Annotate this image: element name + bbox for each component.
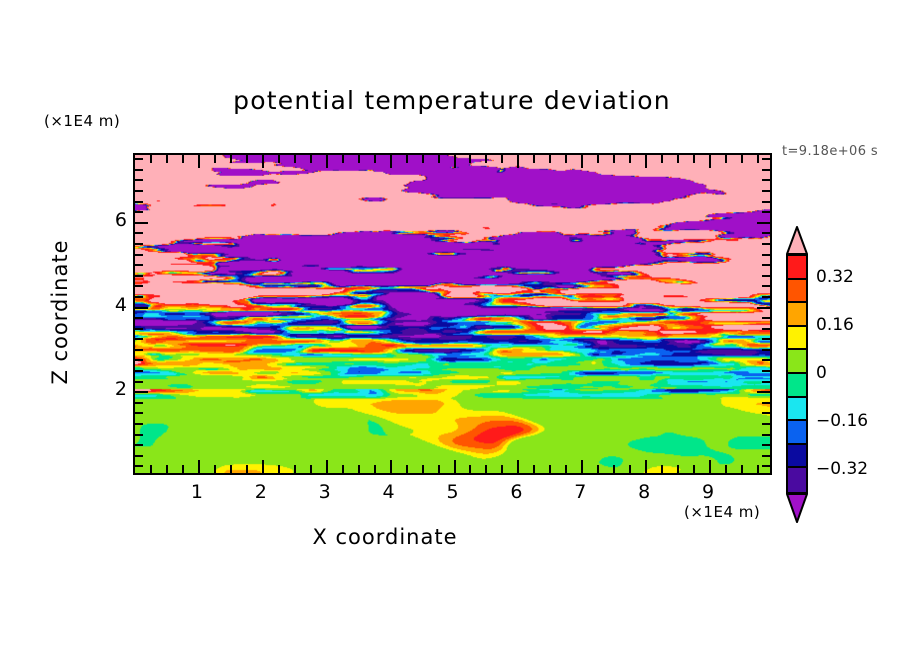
axis-tick: [454, 155, 456, 168]
axis-tick: [262, 155, 264, 168]
axis-tick: [725, 155, 727, 163]
axis-tick: [438, 465, 440, 473]
axis-tick: [135, 285, 143, 287]
axis-tick: [757, 465, 759, 473]
axis-tick: [709, 155, 711, 168]
axis-tick: [135, 370, 143, 372]
colorbar-segment: [788, 398, 806, 422]
axis-tick: [762, 169, 770, 171]
axis-tick: [374, 155, 376, 163]
axis-tick: [214, 465, 216, 473]
axis-tick: [762, 179, 770, 181]
axis-tick: [762, 201, 770, 203]
axis-tick: [693, 465, 695, 473]
axis-tick: [762, 328, 770, 330]
axis-tick: [762, 243, 770, 245]
axis-tick: [182, 155, 184, 163]
axis-tick: [645, 155, 647, 168]
colorbar-segment: [788, 256, 806, 280]
axis-tick: [757, 307, 770, 309]
axis-tick: [135, 264, 143, 266]
axis-tick: [358, 465, 360, 473]
axis-tick: [198, 155, 200, 168]
axis-tick: [661, 155, 663, 163]
figure-canvas: potential temperature deviation (×1E4 m)…: [0, 0, 904, 654]
axis-tick: [135, 179, 143, 181]
axis-tick: [549, 155, 551, 163]
axis-tick: [262, 460, 264, 473]
axis-tick: [246, 465, 248, 473]
axis-tick: [294, 155, 296, 163]
axis-tick: [762, 402, 770, 404]
axis-tick: [757, 222, 770, 224]
colorbar-segment: [788, 421, 806, 445]
axis-tick: [326, 155, 328, 168]
axis-tick: [762, 423, 770, 425]
y-axis-unit-label: (×1E4 m): [44, 112, 120, 130]
colorbar-tick-label: 0: [816, 363, 827, 383]
axis-tick: [135, 232, 143, 234]
colorbar: 0.320.160−0.16−0.32: [784, 226, 810, 522]
axis-tick: [565, 155, 567, 163]
axis-tick: [310, 155, 312, 163]
axis-tick: [135, 455, 143, 457]
axis-tick: [762, 158, 770, 160]
axis-tick: [533, 465, 535, 473]
axis-tick: [762, 349, 770, 351]
colorbar-segment: [788, 280, 806, 304]
x-axis-tick-label: 2: [241, 481, 281, 503]
x-axis-tick-label: 4: [369, 481, 409, 503]
page-title: potential temperature deviation: [0, 86, 904, 115]
axis-tick: [135, 412, 143, 414]
temperature-deviation-field: [135, 155, 770, 473]
axis-tick: [517, 155, 519, 168]
axis-tick: [182, 465, 184, 473]
axis-tick: [135, 402, 143, 404]
axis-tick: [246, 155, 248, 163]
colorbar-segment: [788, 350, 806, 374]
y-axis-tick-label: 6: [101, 209, 127, 231]
axis-tick: [517, 460, 519, 473]
colorbar-tick-label: −0.16: [816, 411, 868, 431]
axis-tick: [230, 465, 232, 473]
axis-tick: [757, 155, 759, 163]
contour-plot-area: [133, 153, 772, 475]
axis-tick: [230, 155, 232, 163]
axis-tick: [150, 155, 152, 163]
axis-tick: [597, 465, 599, 473]
axis-tick: [135, 359, 143, 361]
axis-tick: [135, 338, 143, 340]
x-axis-tick-label: 1: [177, 481, 217, 503]
axis-tick: [390, 155, 392, 168]
axis-tick: [757, 391, 770, 393]
axis-tick: [278, 465, 280, 473]
axis-tick: [326, 460, 328, 473]
axis-tick: [198, 460, 200, 473]
axis-tick: [762, 254, 770, 256]
axis-tick: [762, 465, 770, 467]
axis-tick: [485, 155, 487, 163]
axis-tick: [135, 444, 143, 446]
colorbar-segment: [788, 303, 806, 327]
axis-tick: [762, 455, 770, 457]
y-axis-tick-label: 4: [101, 294, 127, 316]
axis-tick: [406, 155, 408, 163]
axis-tick: [294, 465, 296, 473]
axis-tick: [762, 434, 770, 436]
axis-tick: [549, 465, 551, 473]
axis-tick: [693, 155, 695, 163]
axis-tick: [135, 423, 143, 425]
axis-tick: [645, 460, 647, 473]
time-annotation: t=9.18e+06 s: [782, 144, 878, 159]
colorbar-segment: [788, 468, 806, 492]
axis-tick: [762, 275, 770, 277]
axis-tick: [438, 155, 440, 163]
axis-tick: [342, 465, 344, 473]
axis-tick: [135, 190, 143, 192]
axis-tick: [741, 155, 743, 163]
axis-tick: [485, 465, 487, 473]
axis-tick: [469, 155, 471, 163]
axis-tick: [709, 460, 711, 473]
axis-tick: [762, 338, 770, 340]
axis-tick: [741, 465, 743, 473]
x-axis-unit-label: (×1E4 m): [684, 503, 760, 521]
colorbar-segment: [788, 445, 806, 469]
axis-tick: [135, 307, 148, 309]
colorbar-segment: [788, 374, 806, 398]
axis-tick: [629, 465, 631, 473]
axis-tick: [135, 391, 148, 393]
axis-tick: [135, 296, 143, 298]
axis-tick: [762, 370, 770, 372]
axis-tick: [135, 201, 143, 203]
axis-tick: [762, 211, 770, 213]
axis-tick: [501, 155, 503, 163]
axis-tick: [135, 465, 143, 467]
x-axis-tick-label: 7: [560, 481, 600, 503]
axis-tick: [725, 465, 727, 473]
axis-tick: [135, 349, 143, 351]
axis-tick: [469, 465, 471, 473]
axis-tick: [454, 460, 456, 473]
colorbar-tick-label: 0.16: [816, 315, 854, 335]
axis-tick: [374, 465, 376, 473]
axis-tick: [135, 169, 143, 171]
colorbar-segments: [786, 254, 808, 494]
axis-tick: [762, 317, 770, 319]
axis-tick: [214, 155, 216, 163]
axis-tick: [166, 465, 168, 473]
axis-tick: [762, 190, 770, 192]
axis-tick: [762, 412, 770, 414]
axis-tick: [677, 155, 679, 163]
axis-tick: [677, 465, 679, 473]
axis-tick: [310, 465, 312, 473]
axis-tick: [762, 444, 770, 446]
axis-tick: [135, 317, 143, 319]
axis-tick: [581, 460, 583, 473]
axis-tick: [501, 465, 503, 473]
y-axis-tick-label: 2: [101, 378, 127, 400]
y-axis-title: Z coordinate: [48, 222, 72, 402]
x-axis-title: X coordinate: [0, 525, 770, 549]
axis-tick: [613, 155, 615, 163]
axis-tick: [135, 275, 143, 277]
axis-tick: [762, 232, 770, 234]
axis-tick: [135, 243, 143, 245]
axis-tick: [342, 155, 344, 163]
colorbar-tick-label: 0.32: [816, 267, 854, 287]
axis-tick: [406, 465, 408, 473]
colorbar-segment: [788, 327, 806, 351]
axis-tick: [135, 222, 148, 224]
axis-tick: [629, 155, 631, 163]
axis-tick: [278, 155, 280, 163]
axis-tick: [135, 211, 143, 213]
axis-tick: [581, 155, 583, 168]
axis-tick: [762, 381, 770, 383]
axis-tick: [762, 296, 770, 298]
axis-tick: [135, 381, 143, 383]
axis-tick: [762, 359, 770, 361]
axis-tick: [422, 155, 424, 163]
axis-tick: [166, 155, 168, 163]
axis-tick: [533, 155, 535, 163]
axis-tick: [135, 254, 143, 256]
axis-tick: [661, 465, 663, 473]
axis-tick: [762, 285, 770, 287]
colorbar-over-cap: [786, 226, 808, 255]
axis-tick: [613, 465, 615, 473]
colorbar-tick-label: −0.32: [816, 459, 868, 479]
axis-tick: [150, 465, 152, 473]
x-axis-tick-label: 5: [433, 481, 473, 503]
axis-tick: [762, 264, 770, 266]
axis-tick: [597, 155, 599, 163]
axis-tick: [422, 465, 424, 473]
axis-tick: [135, 158, 143, 160]
axis-tick: [565, 465, 567, 473]
axis-tick: [135, 328, 143, 330]
axis-tick: [358, 155, 360, 163]
x-axis-tick-label: 6: [496, 481, 536, 503]
x-axis-tick-label: 3: [305, 481, 345, 503]
colorbar-under-cap: [786, 493, 808, 523]
x-axis-tick-label: 8: [624, 481, 664, 503]
axis-tick: [135, 434, 143, 436]
x-axis-tick-label: 9: [688, 481, 728, 503]
axis-tick: [390, 460, 392, 473]
